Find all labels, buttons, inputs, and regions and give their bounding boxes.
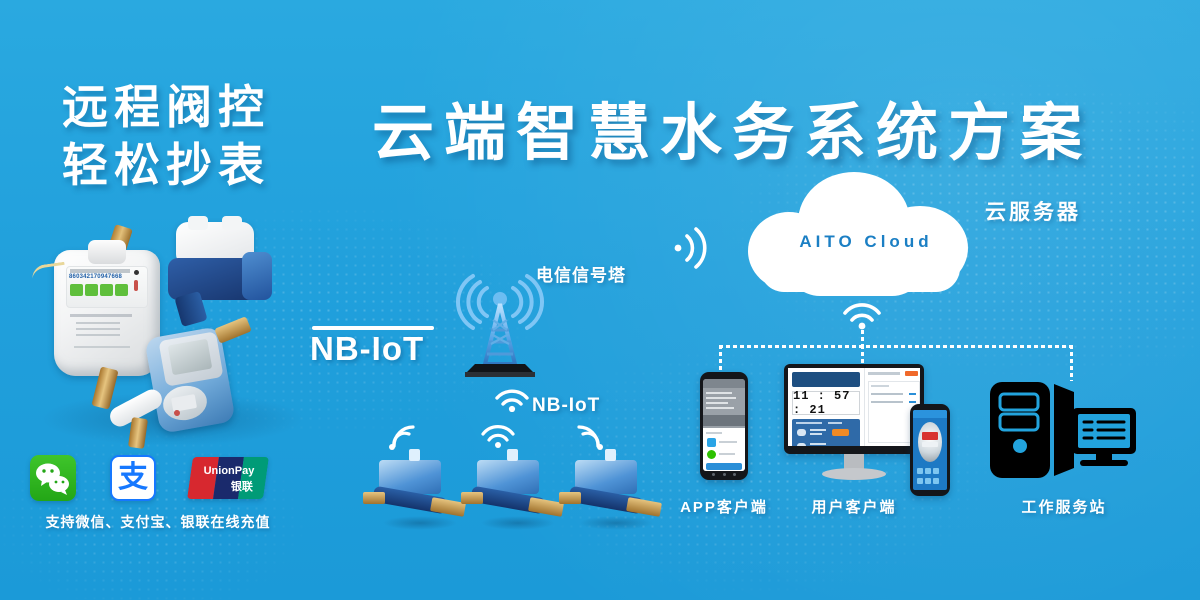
dashboard-header-bar <box>792 372 860 387</box>
sub-headline-line-1: 远程阀控 <box>62 78 362 136</box>
dashboard-clock: 11 : 57 : 21 <box>792 391 860 415</box>
handheld-reader-device <box>910 404 950 496</box>
nbiot-secondary-label: NB-IoT <box>532 395 600 417</box>
sub-headline-line-2: 轻松抄表 <box>62 136 362 194</box>
wifi-icon-to-cloud <box>665 222 713 272</box>
telecom-signal-tower <box>455 268 547 378</box>
poster-canvas: 远程阀控 轻松抄表 云端智慧水务系统方案 860342170947668 <box>0 0 1200 600</box>
list-item <box>463 456 567 528</box>
unionpay-wordmark: UnionPay <box>191 465 267 477</box>
blue-lcd-water-meter <box>138 314 270 444</box>
alipay-icon[interactable]: 支 <box>110 455 156 501</box>
connector-vertical-main <box>861 330 864 346</box>
cloud-label: AITO Cloud <box>786 232 946 252</box>
app-client-device <box>700 372 748 482</box>
nbiot-main-label: NB-IoT <box>310 330 424 368</box>
alipay-glyph: 支 <box>118 463 148 493</box>
wechat-icon[interactable] <box>30 455 76 501</box>
connector-horizontal <box>719 345 1072 348</box>
connector-branch-station <box>1070 345 1073 381</box>
unionpay-cn-wordmark: 银联 <box>219 478 265 494</box>
device-label-station: 工作服务站 <box>1000 496 1128 517</box>
wifi-icon-cloud-down <box>838 296 886 330</box>
device-label-user: 用户客户端 <box>790 496 918 517</box>
user-client-device: 11 : 57 : 21 <box>784 364 924 484</box>
payment-caption: 支持微信、支付宝、银联在线充值 <box>24 512 292 532</box>
wifi-icon <box>381 422 421 452</box>
cloud-server-tag: 云服务器 <box>985 196 1081 226</box>
list-item <box>561 456 665 528</box>
unionpay-icon[interactable]: UnionPay 银联 <box>187 457 269 499</box>
workstation-device <box>988 380 1138 484</box>
list-item <box>365 456 469 528</box>
product-photo-cluster: 860342170947668 <box>30 222 320 452</box>
page-title: 云端智慧水务系统方案 <box>372 82 1092 172</box>
tower-label: 电信信号塔 <box>536 261 626 286</box>
sub-headline: 远程阀控 轻松抄表 <box>62 78 362 194</box>
wifi-icon <box>477 420 519 450</box>
dashboard-list-panel <box>792 419 860 446</box>
connector-branch-app <box>719 345 722 373</box>
wifi-icon <box>571 422 611 452</box>
cloud-server-graphic: AITO Cloud <box>740 172 980 300</box>
field-meter-group <box>365 420 665 530</box>
wifi-icon-tower-down <box>490 382 534 412</box>
device-label-app: APP客户端 <box>660 496 788 517</box>
meter-serial-number: 860342170947668 <box>69 274 143 280</box>
